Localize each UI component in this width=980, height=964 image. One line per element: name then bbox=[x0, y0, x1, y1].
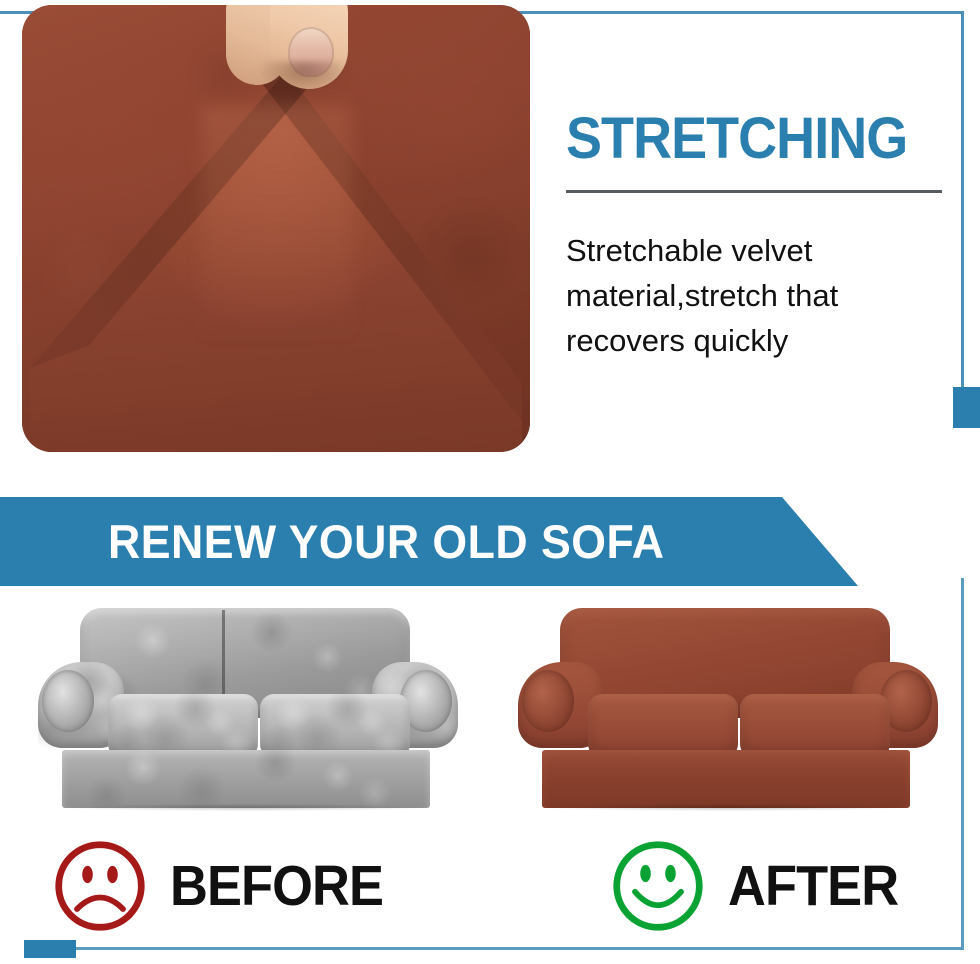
happy-face-icon bbox=[610, 838, 706, 934]
product-feature-infographic: STRETCHING Stretchable velvet material,s… bbox=[0, 0, 980, 964]
hand-icon bbox=[226, 5, 366, 103]
feature-text-column: STRETCHING Stretchable velvet material,s… bbox=[566, 110, 941, 364]
sofa-base-skirt bbox=[62, 750, 430, 808]
frame-line-bottom bbox=[26, 947, 964, 950]
sofa-arm-cap-left bbox=[42, 670, 94, 732]
sofa-arm-cap-left bbox=[522, 670, 574, 732]
before-sofa-image bbox=[32, 600, 462, 815]
sofa-seat-cushion-left bbox=[108, 694, 258, 758]
after-label: AFTER bbox=[728, 853, 898, 919]
sofa-seat-cushion-left bbox=[588, 694, 738, 758]
sofa-seat-cushion-right bbox=[740, 694, 890, 758]
frame-accent-block-right bbox=[953, 387, 980, 428]
before-label: BEFORE bbox=[170, 853, 383, 919]
worn-texture bbox=[260, 694, 410, 758]
before-verdict: BEFORE bbox=[52, 838, 402, 934]
after-verdict: AFTER bbox=[610, 838, 913, 934]
verdict-row: BEFORE AFTER bbox=[0, 838, 980, 938]
worn-texture bbox=[108, 694, 258, 758]
after-sofa-image bbox=[512, 600, 942, 815]
frame-accent-block-bottom bbox=[24, 940, 76, 958]
backrest-seam bbox=[222, 610, 225, 698]
sofa-seat-cushion-right bbox=[260, 694, 410, 758]
heading-divider bbox=[566, 190, 942, 193]
banner-title: RENEW YOUR OLD SOFA bbox=[108, 514, 664, 569]
frame-line-right-upper bbox=[961, 11, 964, 389]
sofa-comparison-row bbox=[0, 600, 980, 830]
fabric-stretch-photo bbox=[22, 5, 530, 452]
sofa-floor-shadow bbox=[552, 804, 902, 811]
renew-banner: RENEW YOUR OLD SOFA bbox=[0, 497, 858, 586]
feature-description: Stretchable velvet material,stretch that… bbox=[566, 229, 926, 364]
finger-shadow bbox=[256, 61, 352, 95]
fabric-highlight bbox=[202, 105, 352, 405]
sofa-floor-shadow bbox=[72, 804, 422, 811]
sad-face-icon bbox=[52, 838, 148, 934]
worn-texture bbox=[62, 750, 430, 808]
sofa-base-skirt bbox=[542, 750, 910, 808]
feature-heading: STRETCHING bbox=[566, 110, 915, 168]
